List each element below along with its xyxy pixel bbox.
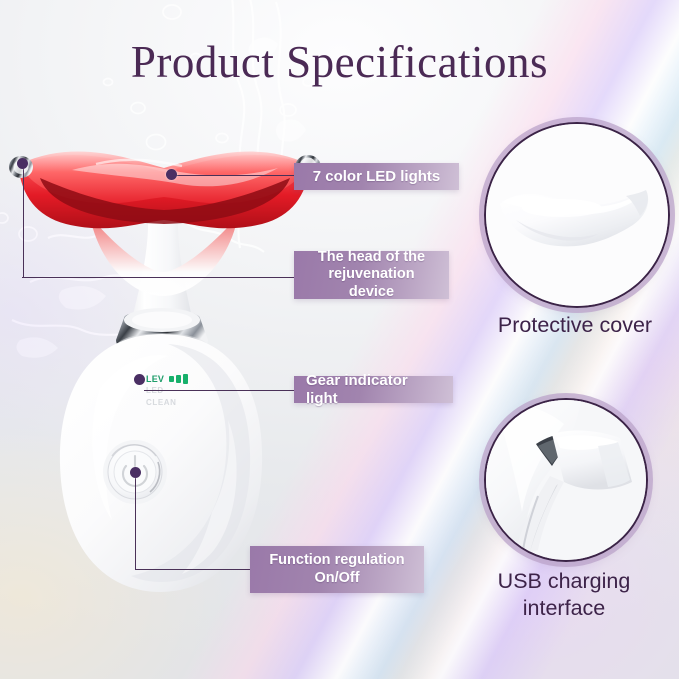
page-title: Product Specifications (0, 36, 679, 88)
leader-line-function-vertical (135, 478, 136, 570)
leader-line-led-lights (176, 175, 294, 176)
callout-label-device-head-line1: The head of the (318, 249, 425, 266)
indicator-bar-2 (176, 375, 181, 383)
callout-label-function-line2: On/Off (314, 570, 359, 587)
callout-dot-function-button (130, 467, 141, 478)
leader-line-head-vertical (23, 168, 24, 278)
callout-dot-gear-indicator (134, 374, 145, 385)
callout-label-gear-indicator[interactable]: Gear indicator light (294, 376, 453, 403)
detail-caption-usb-charging-line2: interface (434, 595, 679, 622)
indicator-label: LEV (146, 374, 164, 384)
callout-dot-led-lights (166, 169, 177, 180)
detail-caption-usb-charging: USB charging interface (434, 568, 679, 621)
neck-rejuvenation-device-illustration (0, 120, 330, 620)
callout-label-device-head-line2: rejuvenation device (306, 266, 437, 300)
detail-circle-usb-charging[interactable] (484, 398, 648, 562)
leader-line-function-horizontal (135, 569, 250, 570)
detail-circle-protective-cover[interactable] (484, 122, 670, 308)
indicator-bar-1 (169, 376, 174, 382)
callout-label-led-lights[interactable]: 7 color LED lights (294, 163, 459, 190)
callout-dot-device-head (17, 158, 28, 169)
infographic-canvas: Product Specifications (0, 0, 679, 679)
usb-charging-image (486, 400, 646, 560)
callout-label-led-lights-line1: 7 color LED lights (313, 168, 441, 186)
leader-line-head-horizontal (22, 277, 294, 278)
detail-caption-usb-charging-line1: USB charging (434, 568, 679, 595)
callout-label-device-head[interactable]: The head of the rejuvenation device (294, 251, 449, 299)
detail-caption-protective-cover-line1: Protective cover (445, 312, 679, 339)
indicator-bar-3 (183, 374, 188, 384)
gear-indicator-display: LEV (146, 374, 188, 384)
callout-label-function-line1: Function regulation (269, 552, 404, 569)
callout-label-function-regulation[interactable]: Function regulation On/Off (250, 546, 424, 593)
leader-line-gear-indicator (144, 390, 294, 391)
mode-label-clean: CLEAN (146, 398, 177, 407)
callout-label-gear-indicator-line1: Gear indicator light (306, 372, 441, 407)
protective-cover-image (486, 124, 668, 306)
detail-caption-protective-cover: Protective cover (445, 312, 679, 339)
